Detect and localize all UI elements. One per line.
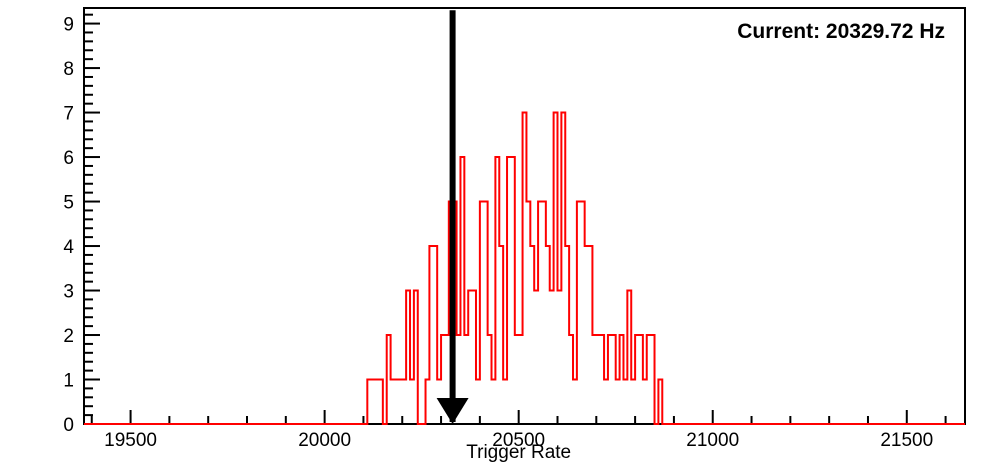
- current-rate-readout: Current: 20329.72 Hz: [737, 20, 945, 43]
- y-axis-tick-label: 8: [63, 59, 74, 80]
- frame-rectangle: [84, 8, 965, 424]
- x-axis-tick-label: 20000: [298, 430, 351, 451]
- x-axis-title: Trigger Rate: [466, 442, 571, 463]
- histogram-outline: [84, 113, 965, 424]
- y-axis-tick-label: 1: [63, 371, 74, 392]
- y-axis-tick-labels: 0123456789: [63, 15, 74, 436]
- x-axis-tick-label: 19500: [104, 430, 157, 451]
- y-axis-tick-label: 6: [63, 148, 74, 169]
- x-axis-ticks: [92, 410, 946, 424]
- y-axis-tick-label: 4: [63, 237, 74, 258]
- y-axis-ticks: [84, 15, 100, 424]
- y-axis-tick-label: 0: [63, 415, 74, 436]
- y-axis-tick-label: 9: [63, 15, 74, 36]
- y-axis-tick-label: 7: [63, 104, 74, 125]
- x-axis-tick-label: 21500: [880, 430, 933, 451]
- x-axis-tick-label: 21000: [686, 430, 739, 451]
- histogram-canvas: 0123456789 1950020000205002100021500 Tri…: [0, 0, 996, 472]
- histogram-series: [84, 113, 965, 424]
- y-axis-tick-label: 3: [63, 282, 74, 303]
- y-axis-tick-label: 5: [63, 193, 74, 214]
- plot-frame: [84, 8, 965, 424]
- root-plot-svg: 0123456789 1950020000205002100021500 Tri…: [0, 0, 996, 472]
- y-axis-tick-label: 2: [63, 326, 74, 347]
